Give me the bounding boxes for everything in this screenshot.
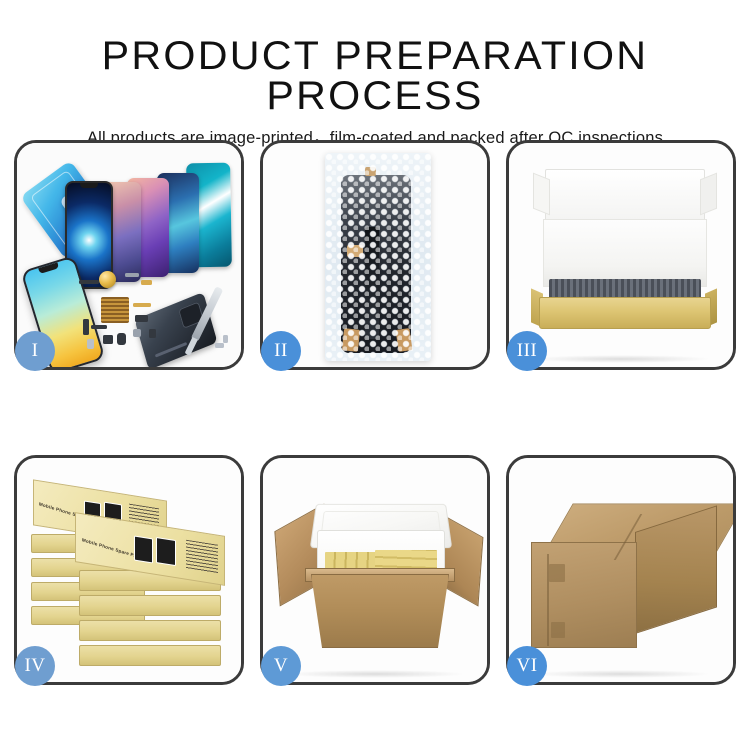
step-badge-6: VI	[507, 646, 547, 686]
step-2-image	[263, 143, 487, 367]
bubble-texture-highlight	[325, 153, 431, 361]
step-badge-3: III	[507, 331, 547, 371]
step-1-image	[17, 143, 241, 367]
foam-sheet	[543, 219, 707, 287]
step-numeral: IV	[24, 655, 45, 677]
header: PRODUCT PREPARATION PROCESS All products…	[0, 0, 750, 147]
page-title: PRODUCT PREPARATION PROCESS	[0, 36, 750, 116]
step-panel-1: I	[14, 140, 244, 370]
step-badge-2: II	[261, 331, 301, 371]
step-badge-1: I	[15, 331, 55, 371]
step-4-image: Mobile Phone Spare Parts Mobile Phone Sp…	[17, 458, 241, 682]
step-5-image	[263, 458, 487, 682]
step-3-image	[509, 143, 733, 367]
step-numeral: II	[274, 340, 288, 362]
box-front	[539, 297, 711, 329]
step-badge-4: IV	[15, 646, 55, 686]
step-numeral: I	[32, 340, 39, 362]
open-shipping-carton	[279, 508, 477, 658]
step-6-image	[509, 458, 733, 682]
step-numeral: VI	[516, 655, 537, 677]
sealed-shipping-carton	[531, 494, 717, 650]
step-numeral: V	[274, 655, 288, 677]
step-panel-5: V	[260, 455, 490, 685]
bubble-wrap-bag	[325, 153, 431, 361]
step-panel-6: VI	[506, 455, 736, 685]
phone-screen-lineup	[61, 161, 241, 276]
step-badge-5: V	[261, 646, 301, 686]
step-panel-2: II	[260, 140, 490, 370]
speaker-module	[99, 271, 116, 288]
carton-front	[311, 574, 449, 648]
box-stack: Mobile Phone Spare Parts Mobile Phone Sp…	[31, 482, 231, 668]
open-inner-box	[531, 169, 717, 335]
step-panel-3: III	[506, 140, 736, 370]
step-panel-4: Mobile Phone Spare Parts Mobile Phone Sp…	[14, 455, 244, 685]
process-steps-grid: I II	[14, 140, 736, 685]
connector-board	[101, 297, 129, 323]
step-numeral: III	[517, 340, 537, 362]
